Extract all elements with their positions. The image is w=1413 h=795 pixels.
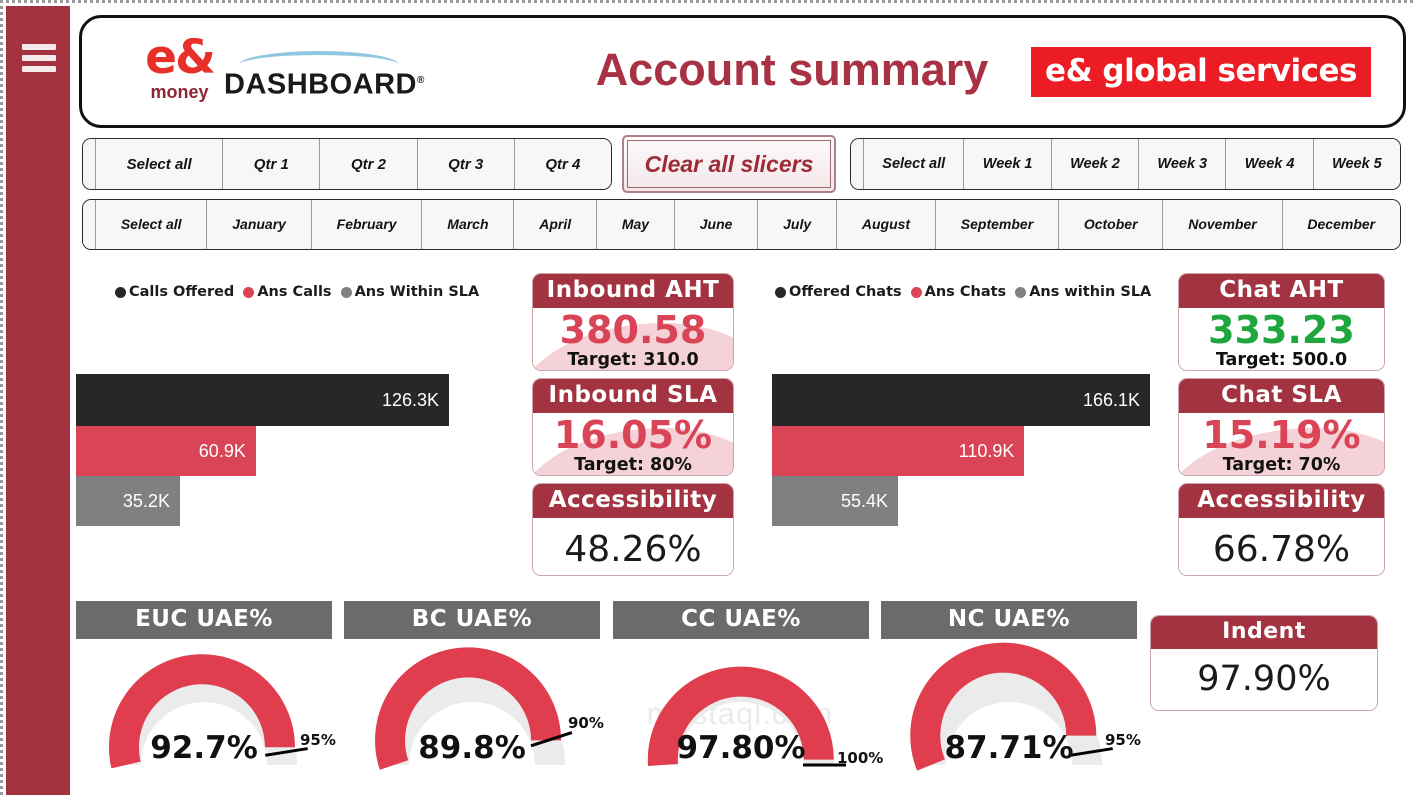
gauge-area: 92.7% 95% [76,639,332,784]
gauge-value: 87.71% [881,730,1137,766]
slicer-month-november[interactable]: November [1162,200,1281,249]
hamburger-menu-icon[interactable] [22,44,56,72]
kpi-body: 16.05% Target: 80% (+64.0%) [533,413,733,476]
legend-label: Ans Within SLA [355,284,480,300]
emoney-logo: e& money [127,36,232,102]
kpi-title: Accessibility [1179,484,1384,518]
gauge-value: 97.80% [613,730,869,766]
gauge-value: 92.7% [76,730,332,766]
legend-label: Ans within SLA [1029,284,1151,300]
slicer-month-october[interactable]: October [1058,200,1162,249]
dashboard-logo: DASHBOARD® [224,51,414,100]
kpi-card-chat-sla[interactable]: Chat SLA 15.19% Target: 70% (+54.8%) [1178,378,1385,476]
dashboard-logo-word: DASHBOARD® [224,66,414,100]
gauge-area: 89.8% 90% [344,639,600,784]
slicer-week-select-all[interactable]: Select all [863,139,963,189]
bar-value-label: 55.4K [841,491,888,512]
kpi-body: 97.90% [1151,649,1377,711]
slicer-pad [83,200,95,249]
bar-value-label: 60.9K [199,441,246,462]
kpi-value: 66.78% [1179,518,1384,576]
bar-value-label: 35.2K [123,491,170,512]
emoney-logo-word: money [127,82,232,102]
legend-dot-icon [115,287,126,298]
legend-label: Ans Chats [925,284,1007,300]
emoney-ampersand-icon: e& [127,36,232,80]
gauge-target-label: 95% [300,731,336,749]
slicer-month-may[interactable]: May [596,200,674,249]
legend-label: Ans Calls [257,284,331,300]
gauge-title: BC UAE% [344,601,600,639]
gauge-area: 97.80% 100% [613,639,869,784]
slicer-month-june[interactable]: June [674,200,757,249]
gauge-target-label: 90% [568,714,604,732]
dashboard-swoosh-icon [239,51,399,65]
bar-row: 35.2K [76,476,516,526]
legend-dot-icon [243,287,254,298]
slicer-qtr-3[interactable]: Qtr 3 [417,139,514,189]
clear-all-slicers-button[interactable]: Clear all slicers [622,135,836,193]
chats-bar-chart[interactable]: 166.1K 110.9K 55.4K [772,374,1172,526]
week-slicer[interactable]: Select all Week 1 Week 2 Week 3 Week 4 W… [850,138,1401,190]
gauge-title: CC UAE% [613,601,869,639]
kpi-card-inbound-sla[interactable]: Inbound SLA 16.05% Target: 80% (+64.0%) [532,378,734,476]
kpi-value: 97.90% [1151,649,1377,709]
report-canvas: e& money DASHBOARD® Account summary e& g… [70,6,1413,795]
gauge-panel-nc[interactable]: NC UAE% 87.71% 95% [881,601,1137,784]
slicer-month-july[interactable]: July [757,200,836,249]
kpi-value: 380.58 [533,308,733,350]
global-services-logo: e& global services [1031,47,1371,97]
kpi-body: 15.19% Target: 70% (+54.8%) [1179,413,1384,476]
legend-entry: Ans Chats [911,284,1007,300]
kpi-card-indent[interactable]: Indent 97.90% [1150,615,1378,711]
legend-label: Calls Offered [129,284,234,300]
kpi-target: Target: 70% (+54.8%) [1179,455,1384,476]
slicer-week-2[interactable]: Week 2 [1051,139,1138,189]
slicer-month-march[interactable]: March [421,200,513,249]
bar-row: 55.4K [772,476,1172,526]
clear-all-slicers-label: Clear all slicers [627,140,831,188]
bar-ans-calls[interactable]: 60.9K [76,426,256,476]
chats-chart-legend: Offered Chats Ans Chats Ans within SLA [775,284,1151,300]
bar-value-label: 166.1K [1083,390,1140,411]
kpi-title: Chat SLA [1179,379,1384,413]
kpi-title: Chat AHT [1179,274,1384,308]
kpi-card-accessibility-chat[interactable]: Accessibility 66.78% [1178,483,1385,576]
slicer-month-select-all[interactable]: Select all [95,200,206,249]
bar-ans-within-sla[interactable]: 35.2K [76,476,180,526]
kpi-card-inbound-aht[interactable]: Inbound AHT 380.58 Target: 310.0 (-70.6) [532,273,734,371]
gauge-value: 89.8% [344,730,600,766]
slicer-month-december[interactable]: December [1282,200,1400,249]
kpi-body: 66.78% [1179,518,1384,576]
bar-row: 60.9K [76,426,516,476]
kpi-title: Indent [1151,616,1377,649]
gauge-target-label: 100% [837,749,883,767]
legend-entry: Calls Offered [115,284,234,300]
kpi-value: 48.26% [533,518,733,576]
slicer-qtr-4[interactable]: Qtr 4 [514,139,611,189]
legend-label: Offered Chats [789,284,902,300]
kpi-title: Inbound SLA [533,379,733,413]
kpi-card-chat-aht[interactable]: Chat AHT 333.23 Target: 500.0 (+166.8) [1178,273,1385,371]
calls-bar-chart[interactable]: 126.3K 60.9K 35.2K [76,374,516,526]
dashboard-page: e& money DASHBOARD® Account summary e& g… [0,0,1413,795]
gauge-panel-euc[interactable]: EUC UAE% 92.7% 95% [76,601,332,784]
slicer-pad [83,139,95,189]
slicer-week-4[interactable]: Week 4 [1225,139,1312,189]
kpi-body: 380.58 Target: 310.0 (-70.6) [533,308,733,371]
kpi-title: Accessibility [533,484,733,518]
slicer-qtr-1[interactable]: Qtr 1 [222,139,319,189]
slicer-month-april[interactable]: April [513,200,596,249]
slicer-qtr-select-all[interactable]: Select all [95,139,222,189]
month-slicer[interactable]: Select all January February March April … [82,199,1401,250]
bar-ans-chats[interactable]: 110.9K [772,426,1024,476]
slicer-week-3[interactable]: Week 3 [1138,139,1225,189]
legend-dot-icon [1015,287,1026,298]
kpi-title: Inbound AHT [533,274,733,308]
bar-row: 110.9K [772,426,1172,476]
page-title: Account summary [482,44,1102,96]
kpi-target: Target: 310.0 (-70.6) [533,350,733,371]
legend-entry: Ans Calls [243,284,331,300]
legend-dot-icon [775,287,786,298]
bar-value-label: 110.9K [959,441,1015,462]
gauge-title: EUC UAE% [76,601,332,639]
slicer-month-february[interactable]: February [311,200,422,249]
slicer-month-september[interactable]: September [935,200,1058,249]
slicer-week-1[interactable]: Week 1 [963,139,1050,189]
slicer-month-august[interactable]: August [836,200,935,249]
legend-dot-icon [341,287,352,298]
legend-entry: Ans within SLA [1015,284,1151,300]
gauge-title: NC UAE% [881,601,1137,639]
bar-value-label: 126.3K [382,390,439,411]
kpi-card-accessibility-inbound[interactable]: Accessibility 48.26% [532,483,734,576]
slicer-pad [851,139,863,189]
bar-offered-chats[interactable]: 166.1K [772,374,1150,426]
kpi-target: Target: 500.0 (+166.8) [1179,350,1384,371]
kpi-target: Target: 80% (+64.0%) [533,455,733,476]
legend-entry: Offered Chats [775,284,902,300]
legend-entry: Ans Within SLA [341,284,480,300]
quarter-slicer[interactable]: Select all Qtr 1 Qtr 2 Qtr 3 Qtr 4 [82,138,612,190]
slicer-qtr-2[interactable]: Qtr 2 [319,139,416,189]
report-header: e& money DASHBOARD® Account summary e& g… [79,15,1406,128]
gauge-area: 87.71% 95% [881,639,1137,784]
kpi-value: 16.05% [533,413,733,455]
kpi-value: 15.19% [1179,413,1384,455]
kpi-value: 333.23 [1179,308,1384,350]
gauge-panel-cc[interactable]: CC UAE% 97.80% 100% [613,601,869,784]
gauge-target-label: 95% [1105,731,1141,749]
calls-chart-legend: Calls Offered Ans Calls Ans Within SLA [115,284,479,300]
bar-row: 126.3K [76,374,516,426]
legend-dot-icon [911,287,922,298]
gauge-panel-bc[interactable]: BC UAE% 89.8% 90% [344,601,600,784]
sidebar [6,6,70,795]
slicer-week-5[interactable]: Week 5 [1313,139,1400,189]
slicer-month-january[interactable]: January [206,200,310,249]
bar-chats-ans-within-sla[interactable]: 55.4K [772,476,898,526]
bar-row: 166.1K [772,374,1172,426]
kpi-body: 333.23 Target: 500.0 (+166.8) [1179,308,1384,371]
kpi-body: 48.26% [533,518,733,576]
bar-calls-offered[interactable]: 126.3K [76,374,449,426]
